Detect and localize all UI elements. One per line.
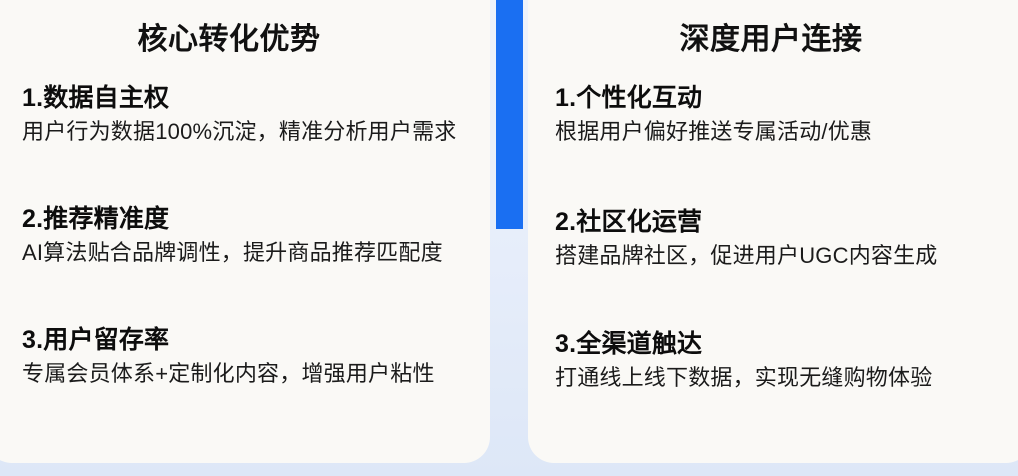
list-item-heading: 3.用户留存率 xyxy=(22,326,480,356)
list-item: 2.推荐精准度 AI算法贴合品牌调性，提升商品推荐匹配度 xyxy=(22,205,480,267)
list-item: 3.全渠道触达 打通线上线下数据，实现无缝购物体验 xyxy=(555,330,1017,392)
page-title-right: 深度用户连接 xyxy=(528,14,1004,58)
list-item-body: 用户行为数据100%沉淀，精准分析用户需求 xyxy=(22,117,480,147)
list-item-body: AI算法贴合品牌调性，提升商品推荐匹配度 xyxy=(22,238,480,268)
list-item: 1.数据自主权 用户行为数据100%沉淀，精准分析用户需求 xyxy=(22,84,480,146)
card-left-content: 核心转化优势 1.数据自主权 用户行为数据100%沉淀，精准分析用户需求 2.推… xyxy=(0,0,476,463)
list-item-heading: 1.数据自主权 xyxy=(22,84,480,114)
card-deep-user-connection: 深度用户连接 1.个性化互动 根据用户偏好推送专属活动/优惠 2.社区化运营 搭… xyxy=(528,0,1018,463)
card-right-content: 深度用户连接 1.个性化互动 根据用户偏好推送专属活动/优惠 2.社区化运营 搭… xyxy=(528,0,1004,463)
list-item-heading: 2.推荐精准度 xyxy=(22,205,480,235)
list-item-heading: 2.社区化运营 xyxy=(555,208,1017,238)
card-core-conversion-advantages: 核心转化优势 1.数据自主权 用户行为数据100%沉淀，精准分析用户需求 2.推… xyxy=(0,0,490,463)
list-item-heading: 1.个性化互动 xyxy=(555,84,1017,114)
page-title-left: 核心转化优势 xyxy=(0,14,476,58)
vertical-divider-bar xyxy=(496,0,523,229)
list-item: 3.用户留存率 专属会员体系+定制化内容，增强用户粘性 xyxy=(22,326,480,388)
list-item: 2.社区化运营 搭建品牌社区，促进用户UGC内容生成 xyxy=(555,208,1017,270)
list-item-heading: 3.全渠道触达 xyxy=(555,330,1017,360)
list-item: 1.个性化互动 根据用户偏好推送专属活动/优惠 xyxy=(555,84,1017,146)
list-item-body: 根据用户偏好推送专属活动/优惠 xyxy=(555,117,1017,147)
list-item-body: 搭建品牌社区，促进用户UGC内容生成 xyxy=(555,241,1017,271)
list-item-body: 打通线上线下数据，实现无缝购物体验 xyxy=(555,363,1017,393)
list-item-body: 专属会员体系+定制化内容，增强用户粘性 xyxy=(22,359,480,389)
